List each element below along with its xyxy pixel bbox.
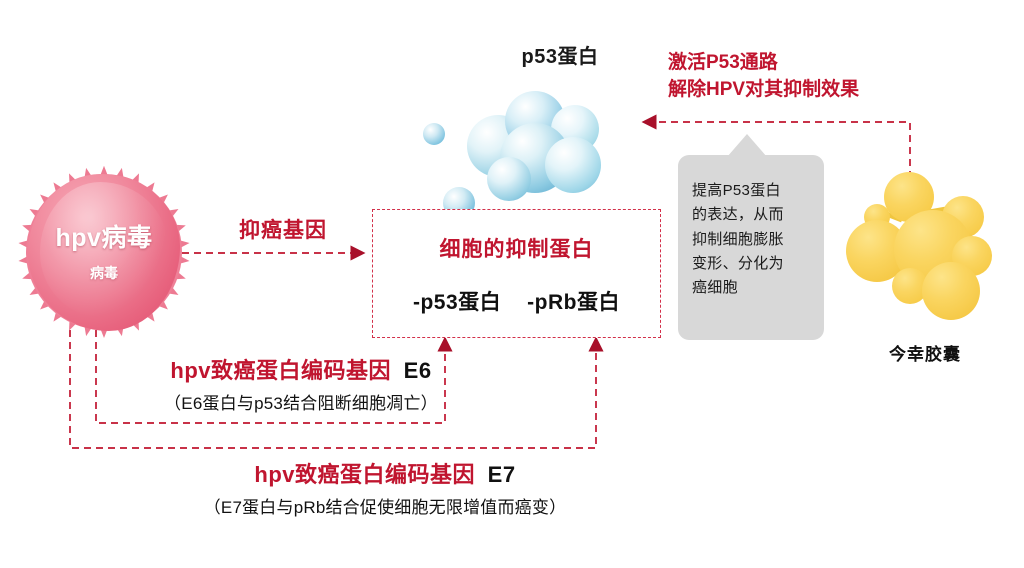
gene-e7-cn: hpv致癌蛋白编码基因 xyxy=(254,462,475,487)
gene-e7-code: E7 xyxy=(481,462,516,487)
capsule-molecule-graphic xyxy=(840,168,1010,333)
suppressor-gene-label: 抑癌基因 xyxy=(213,214,353,244)
hpv-virus-graphic: hpv病毒 病毒 xyxy=(14,160,194,345)
gene-label-e7: hpv致癌蛋白编码基因 E7 （E7蛋白与pRb结合促使细胞无限增值而癌变） xyxy=(155,462,615,518)
callout-text: 提高P53蛋白 的表达，从而 抑制细胞膨胀 变形、分化为 癌细胞 xyxy=(692,179,812,300)
gene-e7-sub: （E7蛋白与pRb结合促使细胞无限增值而癌变） xyxy=(155,493,615,518)
capsule-label: 今幸胶囊 xyxy=(845,340,1005,365)
cell-suppressor-protein-box: 细胞的抑制蛋白 -p53蛋白 -pRb蛋白 xyxy=(372,209,661,338)
activation-note-line1: 激活P53通路 xyxy=(668,50,968,77)
callout-line: 提高P53蛋白 xyxy=(692,179,812,203)
gene-e6-sub: （E6蛋白与p53结合阻断细胞凋亡） xyxy=(100,389,502,414)
gene-e6-main: hpv致癌蛋白编码基因 E6 xyxy=(100,358,502,384)
core-box-title: 细胞的抑制蛋白 xyxy=(373,233,660,263)
core-box-items: -p53蛋白 -pRb蛋白 xyxy=(373,286,660,316)
activation-note: 激活P53通路 解除HPV对其抑制效果 xyxy=(668,50,968,104)
capsule-node xyxy=(922,262,980,320)
callout-line: 变形、分化为 xyxy=(692,252,812,276)
virus-label: hpv病毒 xyxy=(14,218,194,254)
callout-line: 的表达，从而 xyxy=(692,203,812,227)
gene-e6-cn: hpv致癌蛋白编码基因 xyxy=(170,358,391,383)
bubble xyxy=(545,137,601,193)
callout-line: 抑制细胞膨胀 xyxy=(692,228,812,252)
gene-e7-main: hpv致癌蛋白编码基因 E7 xyxy=(155,462,615,488)
bubble xyxy=(423,123,445,145)
core-item-prb: -pRb蛋白 xyxy=(527,286,620,316)
p53-bubble-cluster xyxy=(405,75,625,205)
diagram-canvas: hpv病毒 病毒 抑癌基因 p53蛋白 细胞的抑制蛋白 -p53蛋白 -pRb蛋… xyxy=(0,0,1024,568)
bubble xyxy=(487,157,531,201)
capsule-mechanism-callout: 提高P53蛋白 的表达，从而 抑制细胞膨胀 变形、分化为 癌细胞 xyxy=(678,155,824,340)
gene-label-e6: hpv致癌蛋白编码基因 E6 （E6蛋白与p53结合阻断细胞凋亡） xyxy=(100,358,502,414)
p53-protein-title: p53蛋白 xyxy=(480,40,640,69)
callout-pointer-icon xyxy=(727,134,767,157)
core-item-p53: -p53蛋白 xyxy=(413,286,501,316)
virus-sublabel: 病毒 xyxy=(14,263,194,283)
gene-e6-code: E6 xyxy=(397,358,432,383)
activation-note-line2: 解除HPV对其抑制效果 xyxy=(668,77,968,104)
callout-line: 癌细胞 xyxy=(692,276,812,300)
